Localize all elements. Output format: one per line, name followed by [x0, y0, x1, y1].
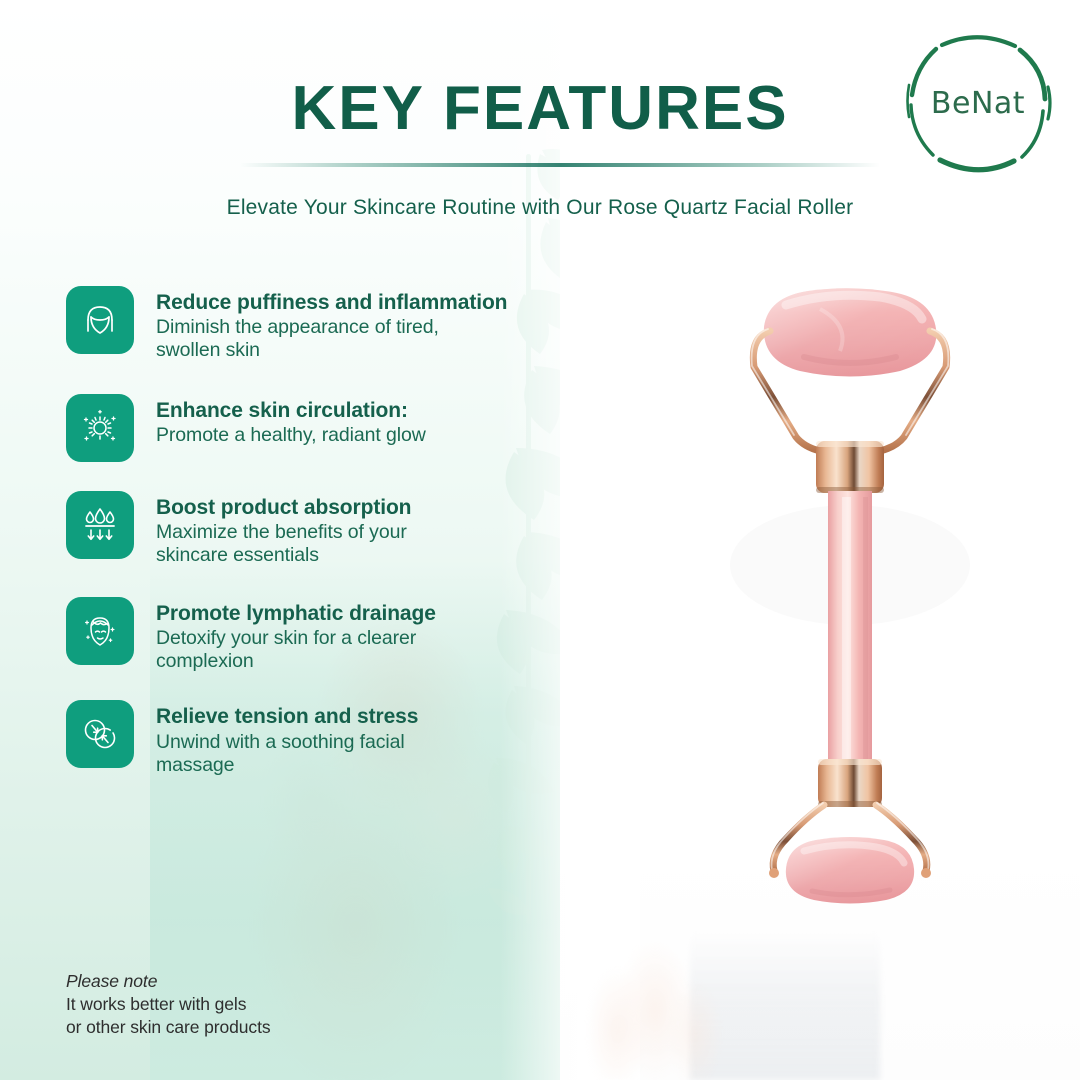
- sun-sparkle-icon: [80, 408, 120, 448]
- feature-icon-box: [66, 700, 134, 768]
- brand-logo: BeNat: [902, 27, 1054, 179]
- logo-text: BeNat: [902, 27, 1054, 179]
- feature-text: Relieve tension and stress Unwind with a…: [156, 700, 418, 776]
- feature-heading: Reduce puffiness and inflammation: [156, 291, 507, 315]
- feature-item-lymphatic-drainage: Promote lymphatic drainage Detoxify your…: [66, 597, 586, 673]
- note-line-1: It works better with gels: [66, 993, 446, 1016]
- feature-icon-box: [66, 394, 134, 462]
- title-divider: [240, 163, 880, 167]
- feature-text: Reduce puffiness and inflammation Dimini…: [156, 286, 507, 362]
- glowing-face-icon: [80, 611, 120, 651]
- droplets-absorption-icon: [80, 505, 120, 545]
- feature-item-enhance-circulation: Enhance skin circulation: Promote a heal…: [66, 394, 586, 462]
- footer-note: Please note It works better with gels or…: [66, 970, 446, 1039]
- feature-heading: Relieve tension and stress: [156, 705, 418, 729]
- facial-roller-illustration: [700, 265, 1000, 905]
- background-photo-hand: [555, 880, 795, 1080]
- background-shelf-blur: [690, 930, 880, 1080]
- feature-description: Promote a healthy, radiant glow: [156, 424, 426, 447]
- top-roller-stone: [764, 288, 936, 376]
- feature-heading: Boost product absorption: [156, 496, 411, 520]
- feature-item-relieve-tension: Relieve tension and stress Unwind with a…: [66, 700, 586, 776]
- overlapping-circles-arrows-icon: [80, 714, 120, 754]
- feature-description: Maximize the benefits of yourskincare es…: [156, 521, 411, 567]
- feature-description: Unwind with a soothing facialmassage: [156, 731, 418, 777]
- feature-description: Detoxify your skin for a clearercomplexi…: [156, 627, 436, 673]
- product-image-rose-quartz-roller: [700, 265, 1000, 905]
- feature-item-reduce-puffiness: Reduce puffiness and inflammation Dimini…: [66, 286, 586, 362]
- feature-text: Boost product absorption Maximize the be…: [156, 491, 411, 567]
- feature-icon-box: [66, 597, 134, 665]
- feature-text: Enhance skin circulation: Promote a heal…: [156, 394, 426, 447]
- feature-heading: Promote lymphatic drainage: [156, 602, 436, 626]
- bottom-roller-stone: [786, 837, 914, 904]
- top-collar: [816, 441, 884, 493]
- page-subtitle: Elevate Your Skincare Routine with Our R…: [0, 196, 1080, 220]
- feature-description: Diminish the appearance of tired,swollen…: [156, 316, 507, 362]
- note-label: Please note: [66, 970, 446, 993]
- feature-heading: Enhance skin circulation:: [156, 399, 426, 423]
- feature-text: Promote lymphatic drainage Detoxify your…: [156, 597, 436, 673]
- face-puffiness-icon: [80, 300, 120, 340]
- infographic-canvas: KEY FEATURES Elevate Your Skincare Routi…: [0, 0, 1080, 1080]
- bottom-collar: [818, 759, 882, 807]
- feature-icon-box: [66, 286, 134, 354]
- note-line-2: or other skin care products: [66, 1016, 446, 1039]
- feature-item-boost-absorption: Boost product absorption Maximize the be…: [66, 491, 586, 567]
- feature-icon-box: [66, 491, 134, 559]
- feature-list: Reduce puffiness and inflammation Dimini…: [66, 286, 586, 777]
